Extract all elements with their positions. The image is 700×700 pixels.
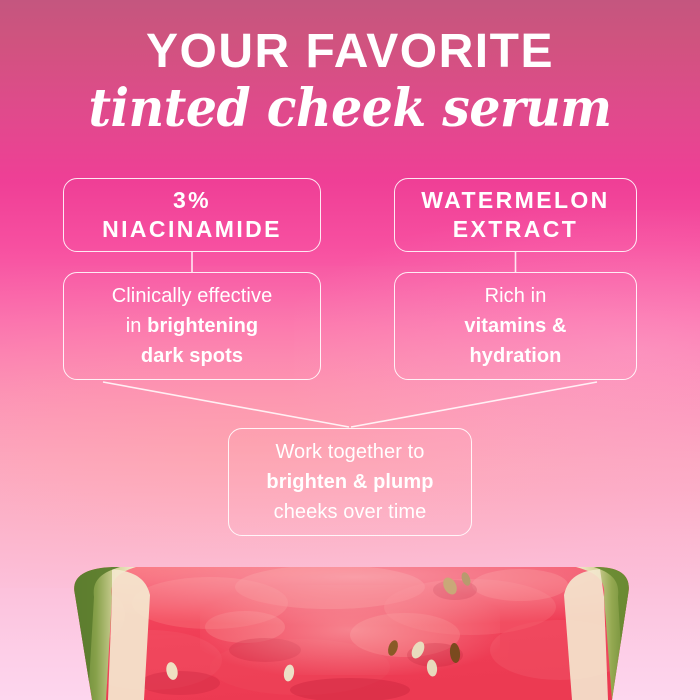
ingredient-heading-text-niacinamide: 3% NIACINAMIDE (102, 186, 282, 244)
watermelon-pith-right (564, 569, 608, 700)
watermelon-slice-icon (0, 555, 700, 700)
niacinamide-benefit-line-1: Clinically effective (112, 285, 273, 307)
extract-word: EXTRACT (453, 216, 578, 242)
watermelon-benefit-line-2-bold: vitamins & (464, 315, 566, 337)
headline-line-2: tinted cheek serum (21, 80, 679, 138)
poster-canvas: YOUR FAVORITE tinted cheek serum 3% NIAC… (0, 0, 700, 700)
page-title: YOUR FAVORITE tinted cheek serum (0, 26, 700, 138)
ingredient-benefit-text-niacinamide: Clinically effective in brightening dark… (112, 281, 273, 371)
watermelon-word: WATERMELON (421, 187, 609, 213)
watermelon-benefit-line-3-bold: hydration (469, 345, 561, 367)
ingredient-heading-watermelon-extract: WATERMELON EXTRACT (394, 178, 637, 252)
watermelon-image (0, 555, 700, 700)
niacinamide-percent: 3% (173, 187, 211, 213)
combined-benefit-line-3: cheeks over time (274, 501, 427, 523)
combined-benefit-line-1: Work together to (275, 441, 424, 463)
ingredient-benefit-text-watermelon-extract: Rich in vitamins & hydration (464, 281, 566, 371)
connector-right-diagonal (351, 382, 597, 427)
niacinamide-benefit-line-2-plain: in (126, 315, 147, 337)
ingredient-heading-niacinamide: 3% NIACINAMIDE (63, 178, 321, 252)
ingredient-benefit-niacinamide: Clinically effective in brightening dark… (63, 272, 321, 380)
combined-benefit-text: Work together to brighten & plump cheeks… (266, 437, 433, 527)
headline-line-1: YOUR FAVORITE (0, 26, 700, 78)
watermelon-benefit-line-1: Rich in (485, 285, 547, 307)
ingredient-benefit-watermelon-extract: Rich in vitamins & hydration (394, 272, 637, 380)
combined-benefit-box: Work together to brighten & plump cheeks… (228, 428, 472, 536)
watermelon-pith-left (108, 569, 150, 700)
niacinamide-benefit-line-2-bold: brightening (147, 315, 258, 337)
connector-left-diagonal (103, 382, 349, 427)
niacinamide-benefit-line-3-bold: dark spots (141, 345, 243, 367)
ingredient-heading-text-watermelon-extract: WATERMELON EXTRACT (421, 186, 609, 244)
combined-benefit-line-2-bold: brighten & plump (266, 471, 433, 493)
niacinamide-name: NIACINAMIDE (102, 216, 282, 242)
